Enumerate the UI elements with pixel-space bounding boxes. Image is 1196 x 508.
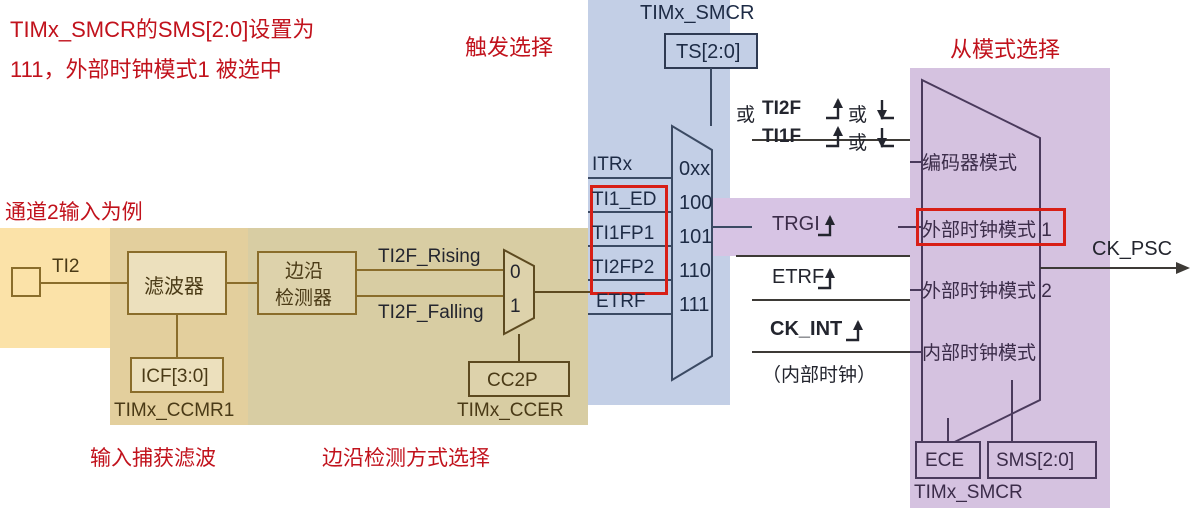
label-or-middle-1: 或 [848,100,867,127]
label-mux-input-0: 0 [510,262,521,284]
annotation-sms-config-line2: 111，外部时钟模式1 被选中 [10,52,282,84]
label-ti2f-signal: TI2F [762,98,801,120]
label-ece-register: ECE [925,450,964,472]
trigger-input-code-0: 0xx [679,158,710,181]
label-ts-register: TS[2:0] [676,41,740,64]
annotation-channel-example: 通道2输入为例 [5,196,143,226]
label-icf-register: ICF[3:0] [141,366,209,388]
label-mux-input-1: 1 [510,296,521,318]
label-or-prefix: 或 [736,100,755,127]
trigger-input-code-2: 101 [679,226,712,249]
label-filter-block: 滤波器 [144,270,204,299]
label-trigger-smcr-title: TIMx_SMCR [640,2,754,25]
label-edge-detector-line2: 检测器 [275,283,332,310]
slave-mode-label-3: 内部时钟模式 [922,338,1036,365]
annotation-slave-mode-select: 从模式选择 [950,32,1060,64]
trigger-input-name-3: TI2FP2 [592,257,654,279]
label-trgi: TRGI [772,213,820,236]
diagram-canvas: TIMx_SMCR的SMS[2:0]设置为 111，外部时钟模式1 被选中 触发… [0,0,1196,508]
trigger-input-name-2: TI1FP1 [592,223,654,245]
annotation-trigger-select: 触发选择 [465,30,553,62]
trigger-input-name-4: ETRF [596,291,646,313]
label-timx-ccmr1: TIMx_CCMR1 [114,400,234,422]
label-or-middle-2: 或 [848,128,867,155]
trigger-input-code-1: 100 [679,192,712,215]
trigger-input-name-0: ITRx [592,154,632,176]
label-ti2f-rising: TI2F_Rising [378,246,480,268]
annotation-input-capture-filter: 输入捕获滤波 [90,442,216,472]
label-edge-detector-line1: 边沿 [285,256,323,283]
slave-mode-label-0: 编码器模式 [922,148,1017,175]
label-ck-psc-output: CK_PSC [1092,238,1172,261]
label-sms-register: SMS[2:0] [996,450,1074,472]
annotation-edge-detect-select: 边沿检测方式选择 [322,442,490,472]
slave-mode-label-2: 外部时钟模式 2 [922,276,1052,303]
label-etrf-signal: ETRF [772,266,824,289]
trigger-input-code-3: 110 [679,260,711,283]
label-cc2p-register: CC2P [487,370,538,392]
trigger-input-name-1: TI1_ED [592,189,656,211]
label-ti2-pin: TI2 [52,256,79,278]
label-ck-int: CK_INT [770,318,842,341]
label-ti1f-signal: TI1F [762,126,801,148]
label-ck-int-note: （内部时钟） [762,360,876,387]
slave-mode-label-1: 外部时钟模式 1 [922,215,1052,242]
label-timx-ccer: TIMx_CCER [457,400,564,422]
trigger-input-code-4: 111 [679,294,709,317]
label-slave-smcr: TIMx_SMCR [914,482,1023,504]
label-ti2f-falling: TI2F_Falling [378,302,484,324]
annotation-sms-config-line1: TIMx_SMCR的SMS[2:0]设置为 [10,12,314,44]
